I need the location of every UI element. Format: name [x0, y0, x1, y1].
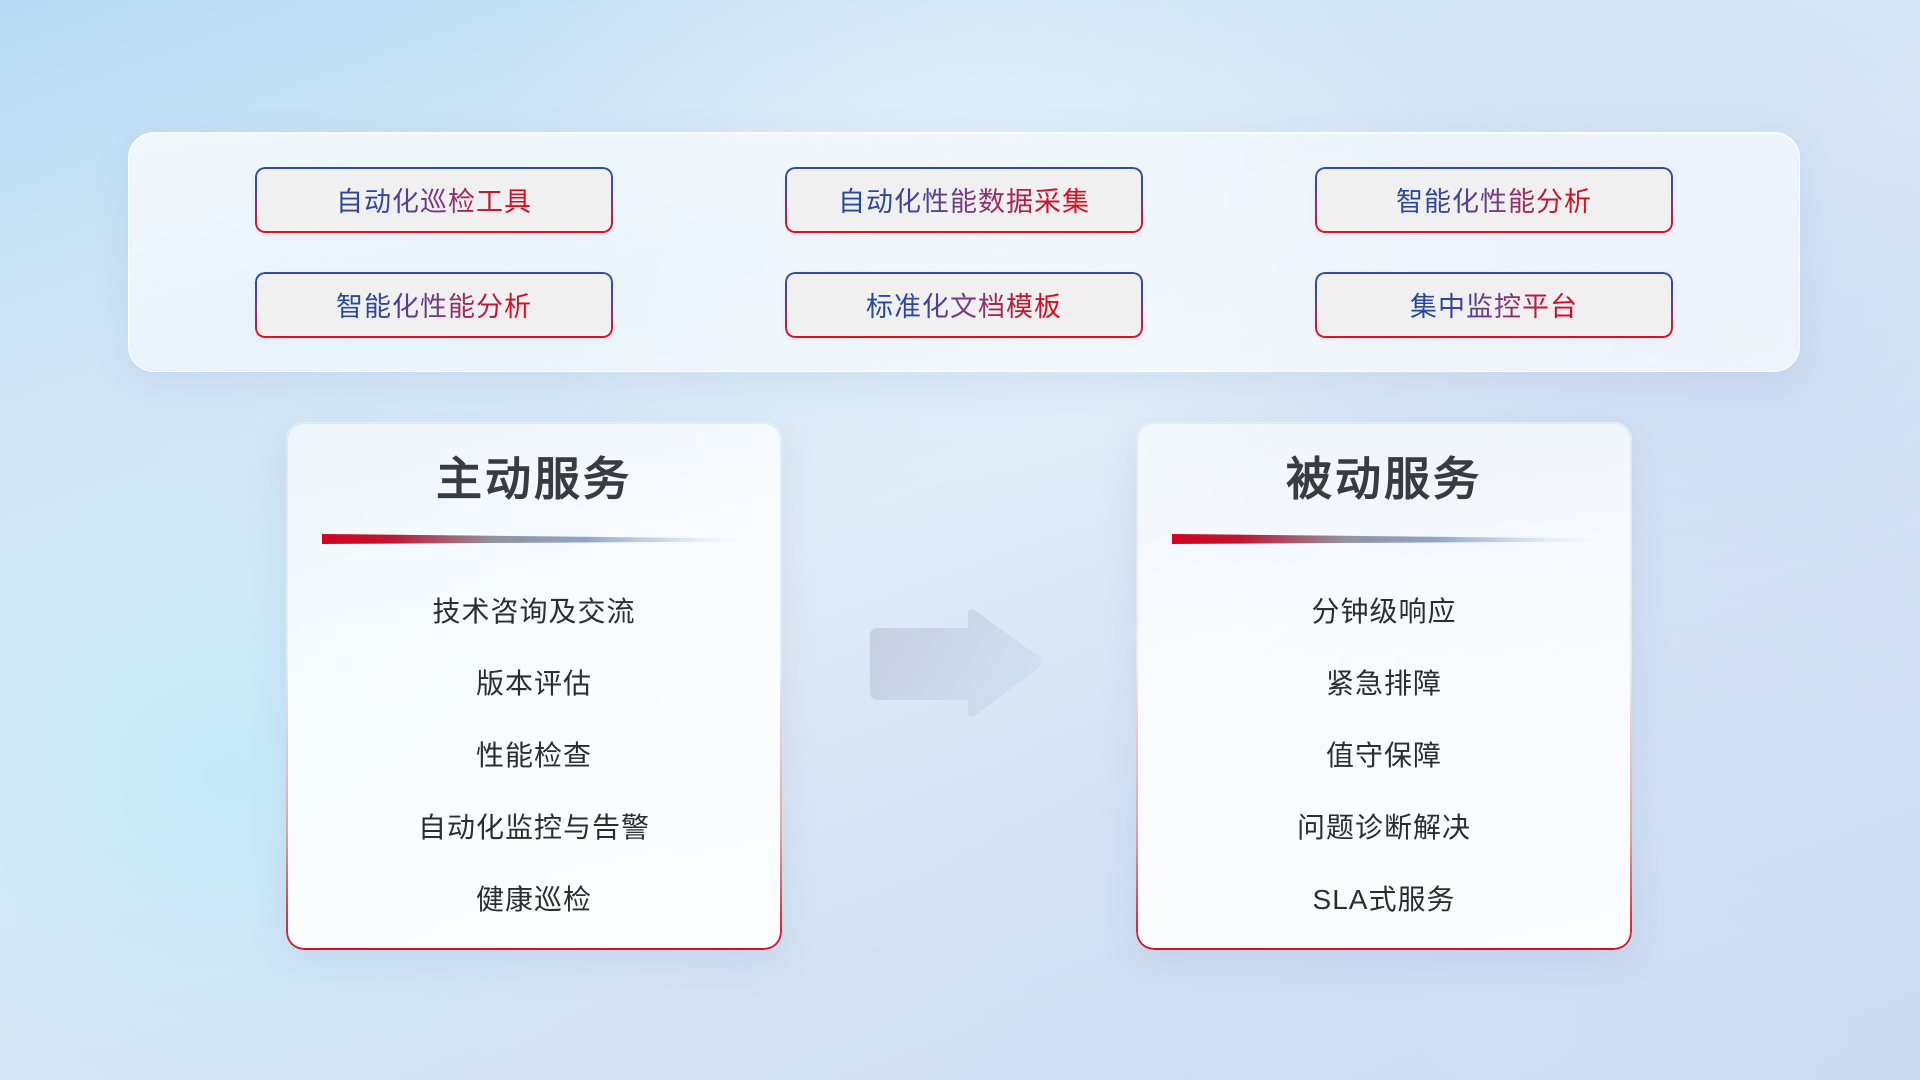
service-item: 紧急排障	[1326, 648, 1442, 720]
title-divider	[322, 532, 746, 546]
passive-service-card: 被动服务	[1136, 422, 1632, 950]
capability-tag[interactable]: 自动化性能数据采集	[785, 167, 1143, 233]
service-item-list: 分钟级响应 紧急排障 值守保障 问题诊断解决 SLA式服务	[1136, 576, 1632, 936]
service-item: 分钟级响应	[1311, 576, 1456, 648]
service-item: 技术咨询及交流	[432, 576, 635, 648]
capability-tag-panel: 自动化巡检工具 自动化性能数据采集 智能化性能分析 智能化性能分析 标准化文档模…	[128, 132, 1800, 372]
capability-tag-label: 集中监控平台	[1410, 285, 1578, 324]
capability-tag-label: 智能化性能分析	[1396, 180, 1592, 219]
service-item: 值守保障	[1326, 720, 1442, 792]
capability-tag-label: 自动化巡检工具	[336, 180, 532, 219]
capability-tag[interactable]: 集中监控平台	[1315, 272, 1673, 338]
capability-tag-label: 自动化性能数据采集	[838, 180, 1090, 219]
service-item: 健康巡检	[476, 864, 592, 936]
service-item-list: 技术咨询及交流 版本评估 性能检查 自动化监控与告警 健康巡检	[286, 576, 782, 936]
active-service-card: 主动服务	[286, 422, 782, 950]
capability-tag[interactable]: 智能化性能分析	[255, 272, 613, 338]
card-title: 主动服务	[436, 456, 632, 502]
slide-canvas: 自动化巡检工具 自动化性能数据采集 智能化性能分析 智能化性能分析 标准化文档模…	[0, 0, 1920, 1080]
capability-tag[interactable]: 标准化文档模板	[785, 272, 1143, 338]
title-divider	[1172, 532, 1596, 546]
service-item: 问题诊断解决	[1297, 792, 1471, 864]
card-title: 被动服务	[1286, 456, 1482, 502]
capability-tag[interactable]: 自动化巡检工具	[255, 167, 613, 233]
capability-tag[interactable]: 智能化性能分析	[1315, 167, 1673, 233]
capability-tag-label: 标准化文档模板	[866, 285, 1062, 324]
service-item: 自动化监控与告警	[418, 792, 650, 864]
service-item: 版本评估	[476, 648, 592, 720]
service-item: 性能检查	[476, 720, 592, 792]
service-item: SLA式服务	[1313, 864, 1456, 936]
right-arrow-icon	[862, 606, 1044, 722]
capability-tag-label: 智能化性能分析	[336, 285, 532, 324]
